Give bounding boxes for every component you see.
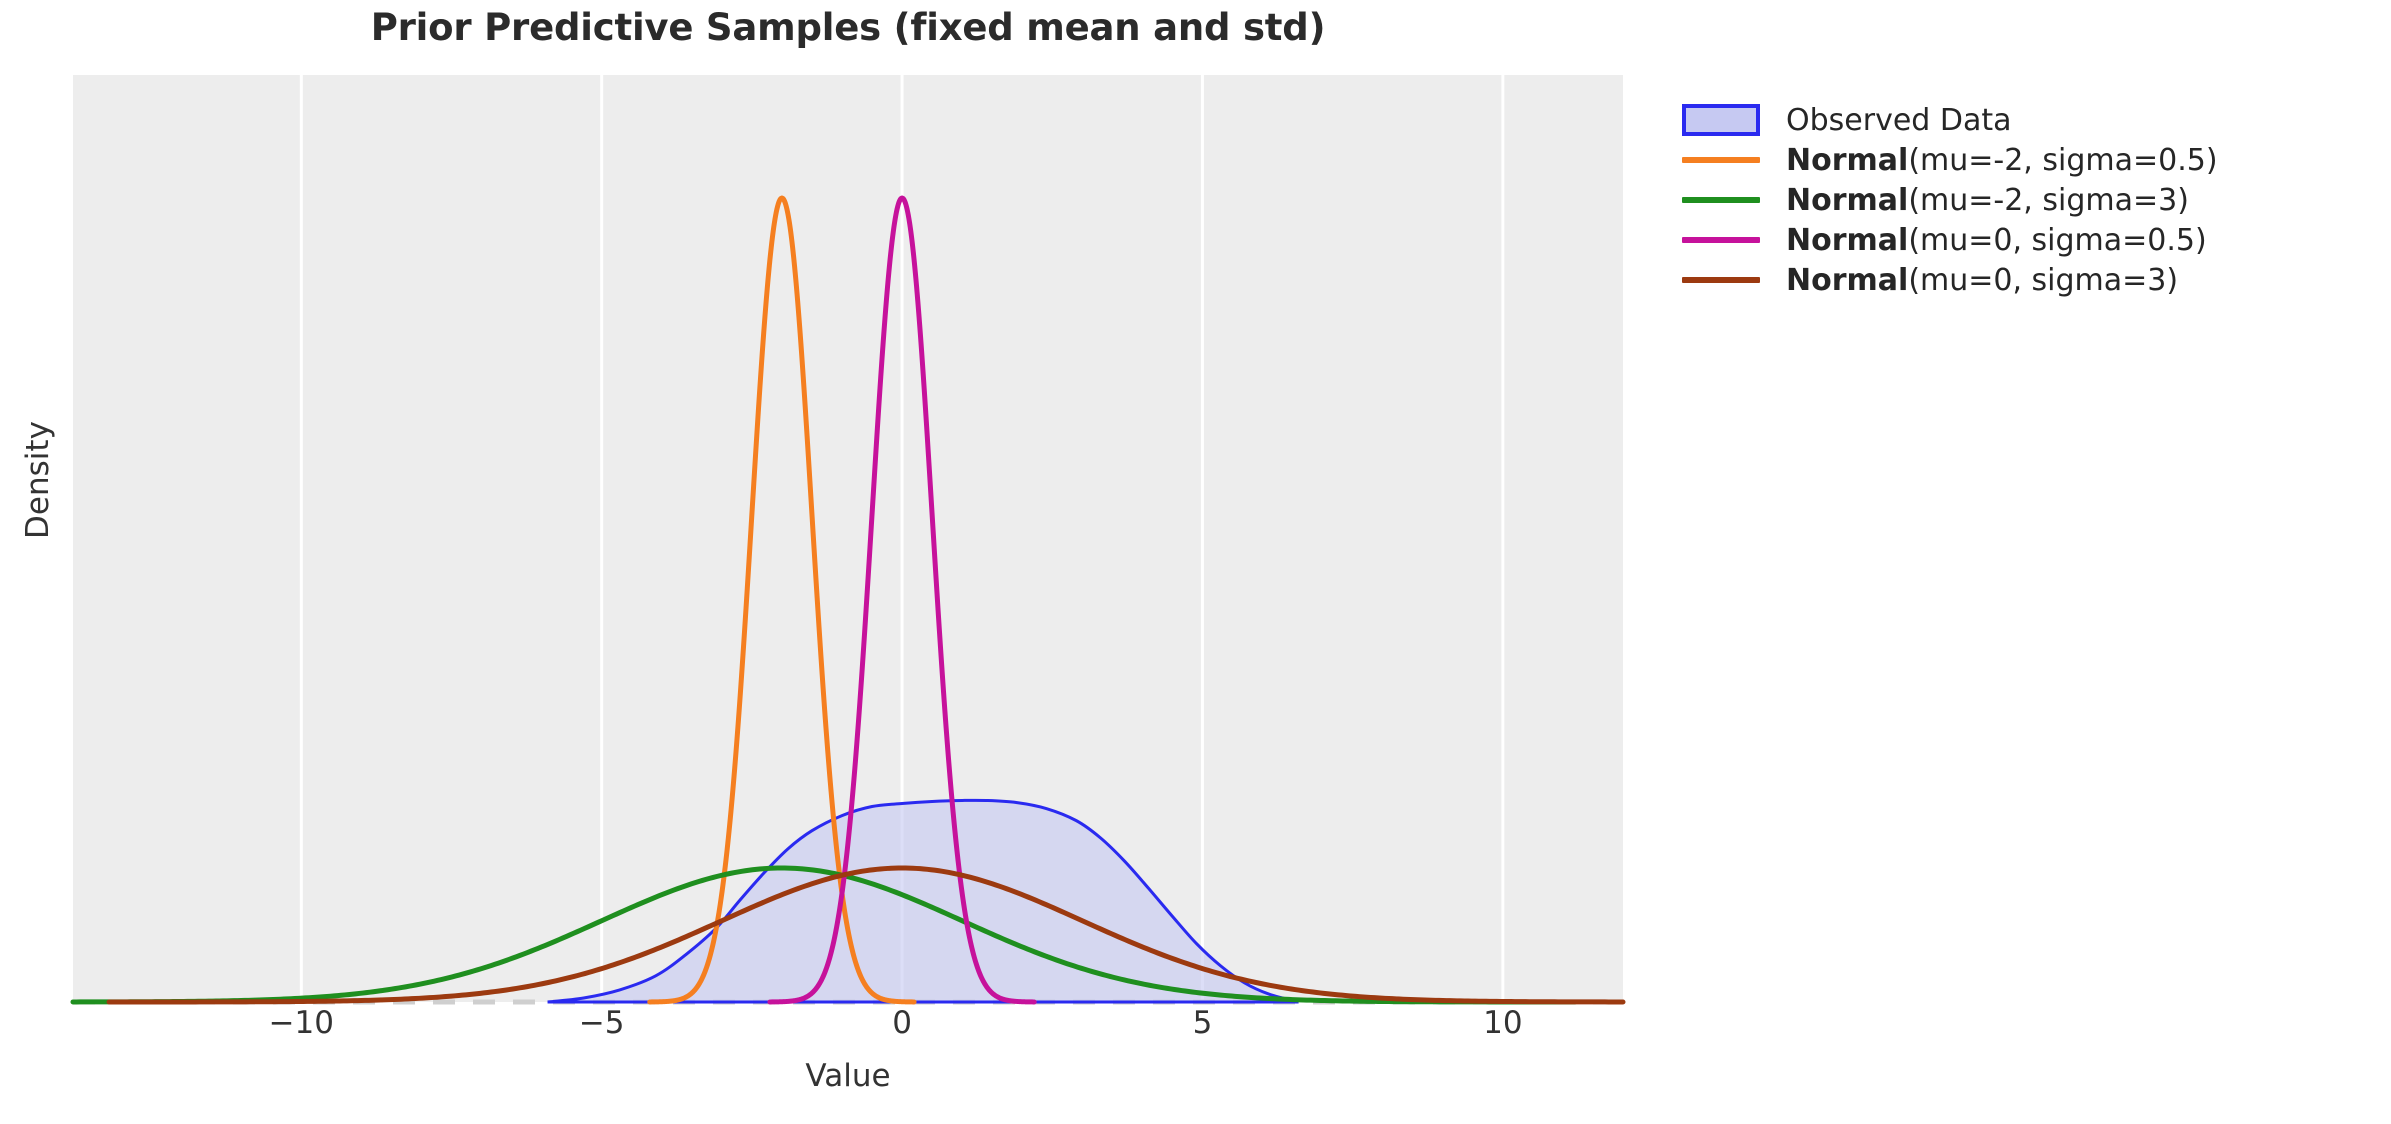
legend-label-dist: Normal xyxy=(1786,223,1908,258)
legend-label: Normal(mu=-2, sigma=0.5) xyxy=(1786,143,2218,178)
legend-label: Normal(mu=-2, sigma=3) xyxy=(1786,183,2189,218)
legend-label: Normal(mu=0, sigma=3) xyxy=(1786,263,2178,298)
legend-label-params: (mu=-2, sigma=0.5) xyxy=(1908,143,2217,178)
legend-label-dist: Normal xyxy=(1786,143,1908,178)
legend-line-icon xyxy=(1680,223,1762,257)
legend-swatch xyxy=(1682,104,1760,136)
x-tick-label: −5 xyxy=(542,1005,662,1041)
legend-label-params: (mu=0, sigma=0.5) xyxy=(1908,223,2206,258)
legend-swatch xyxy=(1682,277,1760,283)
legend-line-icon xyxy=(1680,143,1762,177)
legend-item-0[interactable]: Observed Data xyxy=(1680,100,2380,140)
legend-label-dist: Normal xyxy=(1786,183,1908,218)
legend-item-4[interactable]: Normal(mu=0, sigma=3) xyxy=(1680,260,2380,300)
x-tick-label: 10 xyxy=(1443,1005,1563,1041)
legend-patch-icon xyxy=(1680,103,1762,137)
legend-label: Observed Data xyxy=(1786,103,2012,138)
legend-item-3[interactable]: Normal(mu=0, sigma=0.5) xyxy=(1680,220,2380,260)
legend-item-1[interactable]: Normal(mu=-2, sigma=0.5) xyxy=(1680,140,2380,180)
x-tick-label: 0 xyxy=(842,1005,962,1041)
legend-label: Normal(mu=0, sigma=0.5) xyxy=(1786,223,2207,258)
legend-label-dist: Normal xyxy=(1786,263,1908,298)
legend-line-icon xyxy=(1680,183,1762,217)
y-axis-label: Density xyxy=(20,380,56,580)
figure-canvas: Prior Predictive Samples (fixed mean and… xyxy=(0,0,2391,1124)
legend-label-params: (mu=0, sigma=3) xyxy=(1908,263,2178,298)
x-tick-label: 5 xyxy=(1142,1005,1262,1041)
legend-swatch xyxy=(1682,237,1760,243)
legend-swatch xyxy=(1682,197,1760,203)
legend-line-icon xyxy=(1680,263,1762,297)
x-tick-label: −10 xyxy=(241,1005,361,1041)
legend-swatch xyxy=(1682,157,1760,163)
legend-label-params: (mu=-2, sigma=3) xyxy=(1908,183,2189,218)
x-axis-label: Value xyxy=(73,1058,1623,1094)
chart-legend: Observed DataNormal(mu=-2, sigma=0.5)Nor… xyxy=(1680,100,2380,300)
legend-item-2[interactable]: Normal(mu=-2, sigma=3) xyxy=(1680,180,2380,220)
